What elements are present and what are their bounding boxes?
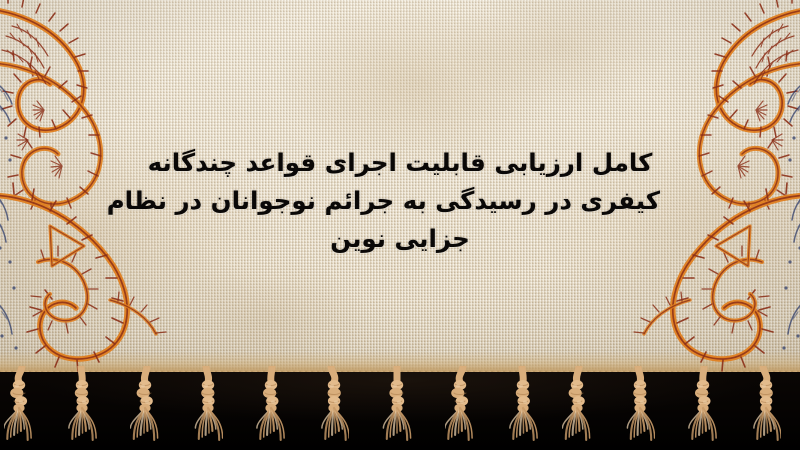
black-base	[0, 372, 800, 450]
title-line-3: جزایی نوین	[140, 220, 660, 258]
title-line-2: کیفری در رسیدگی به جرائم نوجوانان در نظا…	[140, 182, 660, 220]
title-line-1: کامل ارزیابی قابلیت اجرای قواعد چندگانه	[140, 144, 660, 182]
page-title: کامل ارزیابی قابلیت اجرای قواعد چندگانه …	[140, 144, 660, 258]
title-card: کامل ارزیابی قابلیت اجرای قواعد چندگانه …	[0, 0, 800, 450]
